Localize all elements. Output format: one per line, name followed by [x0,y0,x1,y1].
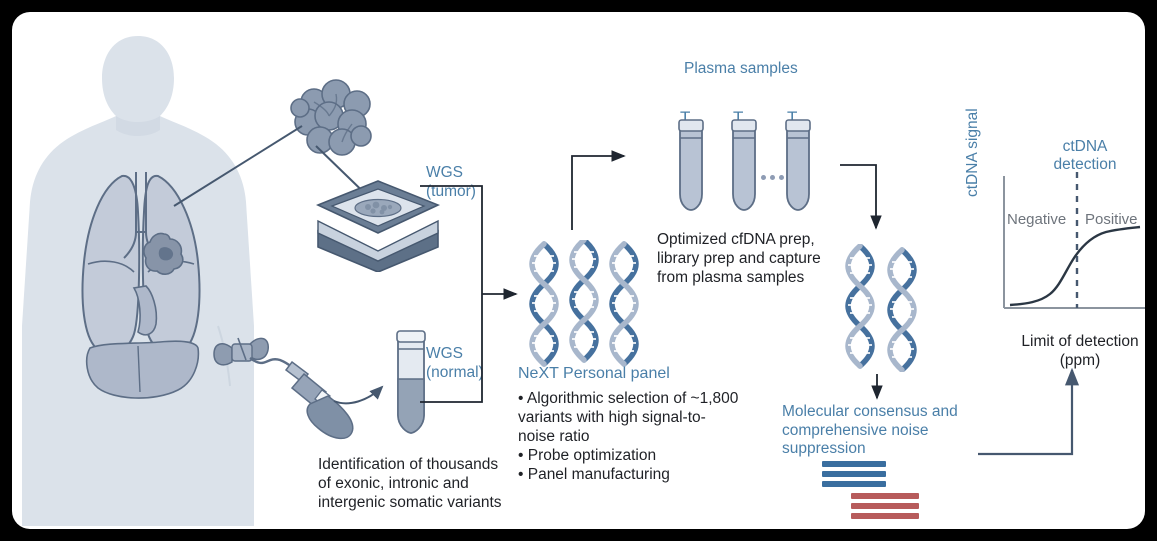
plasma-sample-tube [674,116,708,212]
read-bar-blue [822,471,886,477]
ctdna-signal-curve [1010,227,1140,305]
cfdna-prep-caption: Optimized cfDNA prep, library prep and c… [657,230,847,287]
ellipsis-dots [761,167,788,185]
read-bar-blue [822,461,886,467]
chart-title: ctDNA detection [1030,119,1140,175]
consensus-to-chart-arrow [974,360,1084,470]
panel-title: NeXT Personal panel [518,365,670,384]
figure-card: WGS (tumor) WGS (normal) [12,12,1145,529]
plasma-to-cfdna-arrow [838,160,898,250]
sequencing-read-bars [817,461,957,517]
chart-x-axis-label: Limit of detection (ppm) [1000,332,1145,370]
read-bar-red [851,503,919,509]
read-bar-red [851,513,919,519]
wgs-merge-arrow [416,180,526,410]
panel-bullets: • Algorithmic selection of ~1,800 varian… [518,389,753,484]
positive-region-label: Positive [1085,211,1138,228]
molecular-consensus-caption: Molecular consensus and comprehensive no… [782,403,987,459]
dna-double-helix [834,244,924,372]
ctdna-detection-chart [974,172,1145,332]
dna-double-helix [524,240,642,368]
plasma-sample-tube [727,116,761,212]
negative-region-label: Negative [1007,211,1066,228]
body-to-tumor-leader-line [168,122,308,212]
identification-caption: Identification of thousands of exonic, i… [318,455,533,512]
plasma-sample-tube [781,116,815,212]
read-bar-blue [822,481,886,487]
dna-to-plasma-arrow [568,148,658,233]
chart-y-axis-label: ctDNA signal [964,108,983,197]
read-bar-red [851,493,919,499]
plasma-samples-title: Plasma samples [684,60,798,79]
